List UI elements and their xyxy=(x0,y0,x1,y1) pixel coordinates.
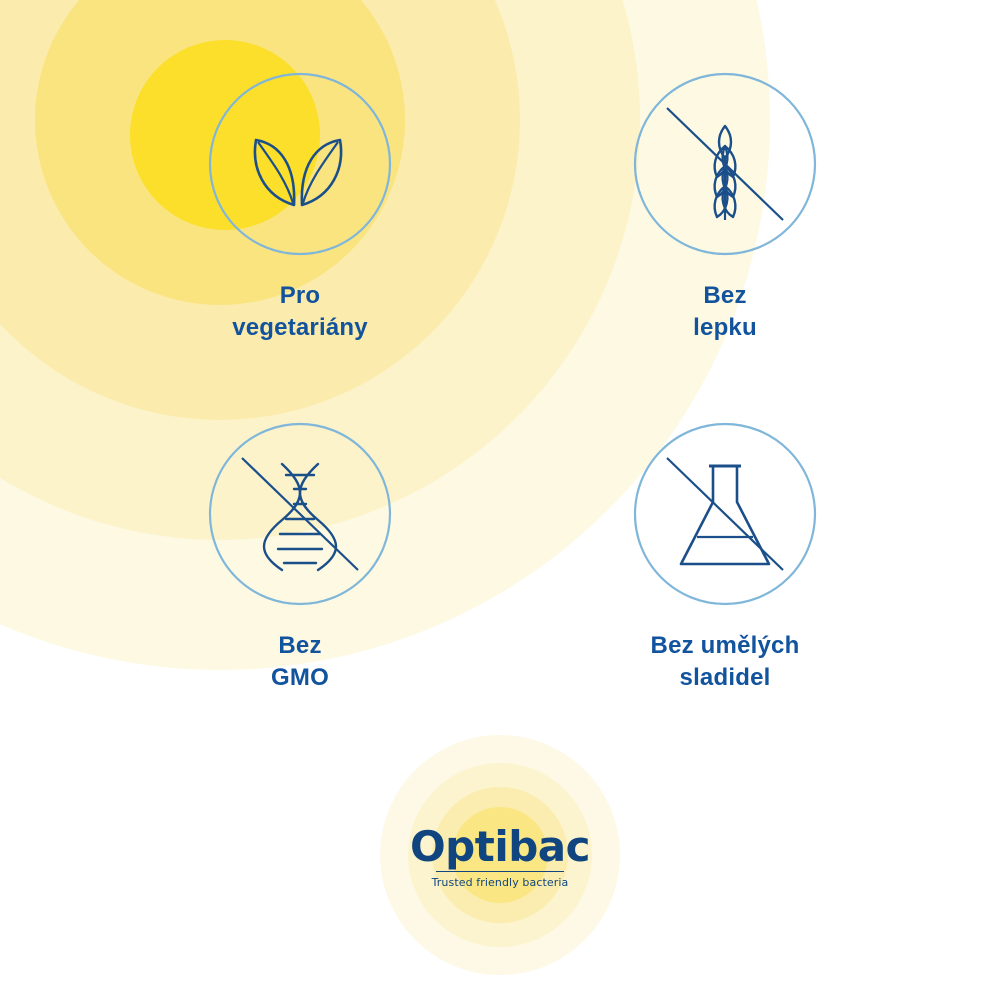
dna-helix-crossed-out-icon xyxy=(206,420,394,608)
logo-tagline: Trusted friendly bacteria xyxy=(0,876,1000,889)
badge-gmo-free: Bez GMO xyxy=(135,420,465,694)
erlenmeyer-flask-crossed-out-icon xyxy=(631,420,819,608)
logo-divider xyxy=(436,871,564,872)
badge-label: Bez lepku xyxy=(560,280,890,344)
badge-label: Pro vegetariány xyxy=(135,280,465,344)
optibac-logo: Optibac Trusted friendly bacteria xyxy=(0,826,1000,889)
badge-gluten-free: Bez lepku xyxy=(560,70,890,344)
badge-label: Bez GMO xyxy=(135,630,465,694)
badge-label: Bez umělých sladidel xyxy=(560,630,890,694)
badge-no-artificial-sweeteners: Bez umělých sladidel xyxy=(560,420,890,694)
two-leaves-icon xyxy=(206,70,394,258)
badge-grid: Pro vegetariány xyxy=(0,0,1000,740)
wheat-ear-crossed-out-icon xyxy=(631,70,819,258)
badge-vegetarian: Pro vegetariány xyxy=(135,70,465,344)
product-feature-graphic: Pro vegetariány xyxy=(0,0,1000,1000)
logo-wordmark: Optibac xyxy=(0,826,1000,868)
